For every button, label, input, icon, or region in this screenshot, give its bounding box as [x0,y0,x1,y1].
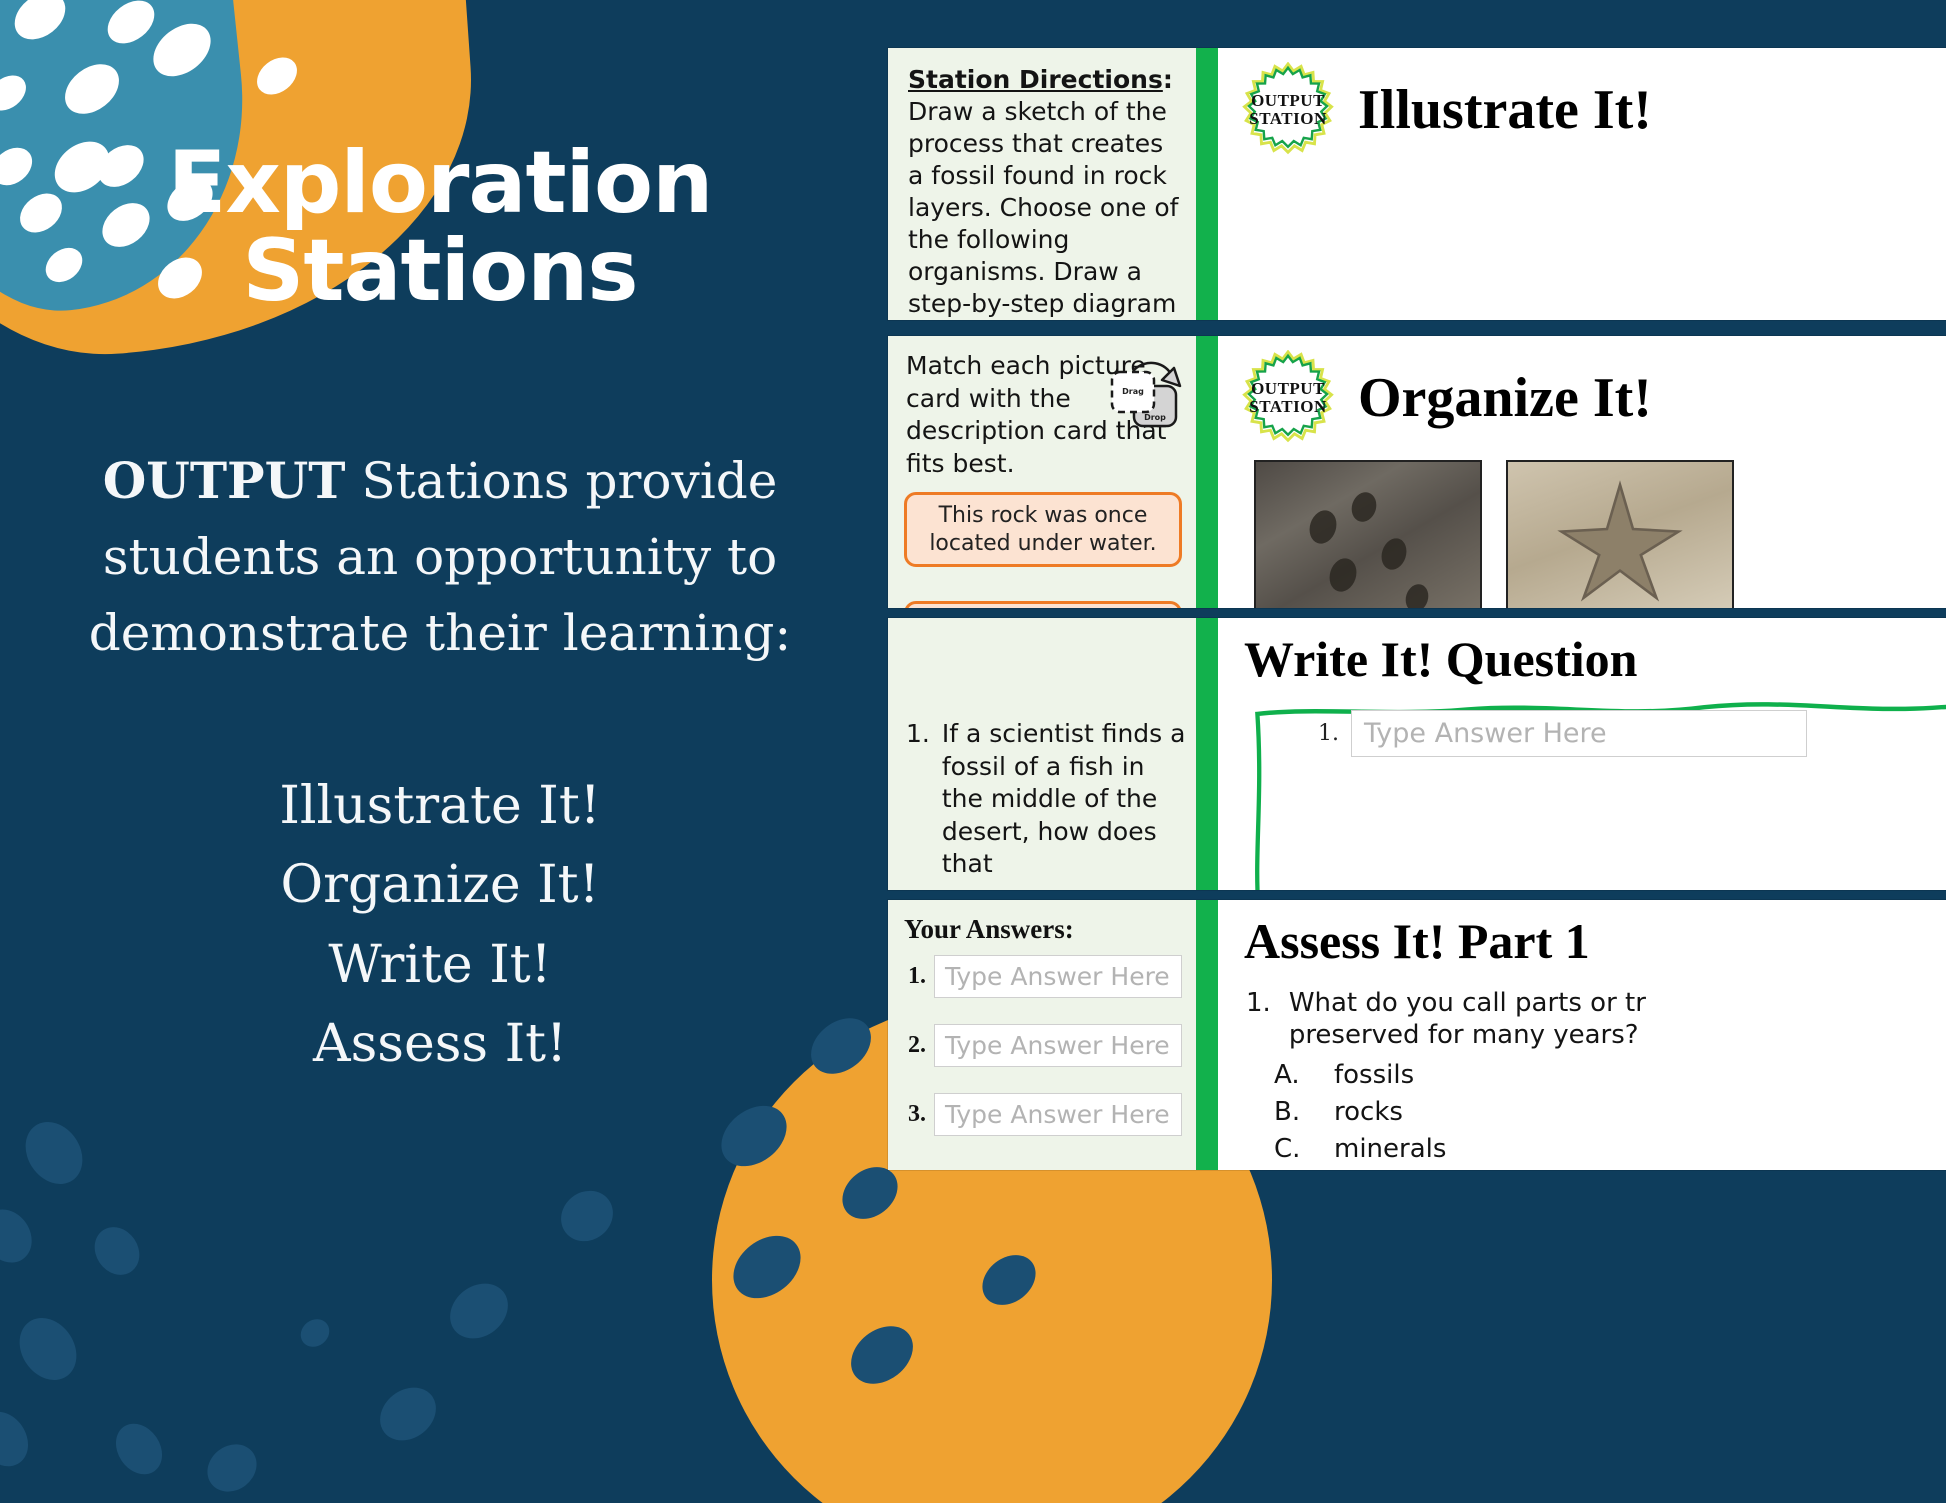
station-list-item-3: Assess It! [45,1005,835,1084]
seal-label: OUTPUT STATION [1240,62,1336,158]
assess-choice-text-b: rocks [1334,1094,1403,1131]
station-directions-label: Station Directions [908,65,1163,94]
slide-preview-organize[interactable]: Match each picture card with the descrip… [888,336,1946,608]
green-accent-bar [1196,900,1218,1170]
illustrate-directions-text: Station Directions: Draw a sketch of the… [888,48,1196,320]
illustrate-title: Illustrate It! [1358,82,1652,138]
assess-choice-label-b: B. [1274,1094,1304,1131]
write-question-pane: 1. If a scientist finds a fossil of a fi… [888,618,1196,890]
green-accent-bar [1196,48,1218,320]
assess-question-number: 1. [1246,988,1271,1051]
assess-answer-number-1: 1. [900,963,926,990]
green-accent-bar [1196,618,1218,890]
assess-answer-number-3: 3. [900,1101,926,1128]
station-type-list: Illustrate It! Organize It! Write It! As… [45,767,835,1083]
organize-header-row: OUTPUT STATION Organize It! [1218,336,1946,446]
station-list-item-2: Write It! [45,926,835,1005]
assess-choice-text-a: fossils [1334,1057,1414,1094]
seal-line-2: STATION [1249,110,1327,128]
write-question-number: 1. [906,718,930,881]
assess-choice-d[interactable]: D. dinosaurs [1274,1168,1946,1170]
slide-preview-write[interactable]: 1. If a scientist finds a fossil of a fi… [888,618,1946,890]
illustrate-header-row: OUTPUT STATION Illustrate It! [1218,48,1946,158]
organize-instructions-pane: Match each picture card with the descrip… [888,336,1196,608]
assess-question-line-2: preserved for many years? [1289,1020,1639,1050]
fossil-image-starfish[interactable] [1506,460,1734,608]
station-directions-body: Draw a sketch of the process that create… [908,97,1178,320]
description-paragraph: OUTPUT Stations provide students an oppo… [45,443,835,671]
assess-question-line-1: What do you call parts or tr [1289,988,1646,1018]
description-card-1[interactable]: This object was located [904,601,1182,608]
assess-title: Assess It! Part 1 [1218,900,1946,970]
svg-text:Drop: Drop [1144,413,1166,422]
svg-text:Drag: Drag [1122,387,1144,396]
assess-answer-list: 1. Type Answer Here 2. Type Answer Here … [888,945,1196,1136]
write-answer-number: 1. [1318,721,1339,746]
assess-question-pane[interactable]: Assess It! Part 1 1. What do you call pa… [1218,900,1946,1170]
slide-preview-illustrate[interactable]: Station Directions: Draw a sketch of the… [888,48,1946,320]
title-line-2: Stations [60,228,820,316]
fossil-image-footprints[interactable] [1254,460,1482,608]
green-accent-bar [1196,336,1218,608]
assess-answer-row-3[interactable]: 3. Type Answer Here [900,1093,1182,1136]
assess-choice-b[interactable]: B. rocks [1274,1094,1946,1131]
seal-line-2: STATION [1249,398,1327,416]
organize-instructions-text: Match each picture card with the descrip… [888,336,1196,480]
description-card-0[interactable]: This rock was once located under water. [904,492,1182,567]
assess-answer-row-1[interactable]: 1. Type Answer Here [900,955,1182,998]
output-station-seal-icon: OUTPUT STATION [1240,350,1336,446]
assess-answer-input-1[interactable]: Type Answer Here [934,955,1182,998]
assess-answer-input-3[interactable]: Type Answer Here [934,1093,1182,1136]
drag-drop-icon: Drag Drop [1098,356,1190,444]
organize-canvas-pane[interactable]: OUTPUT STATION Organize It! [1218,336,1946,608]
assess-answer-row-2[interactable]: 2. Type Answer Here [900,1024,1182,1067]
page-title: Exploration Stations [60,140,820,315]
write-question-block: 1. If a scientist finds a fossil of a fi… [888,618,1196,881]
fossil-picture-cards [1218,446,1946,608]
your-answers-label: Your Answers: [888,900,1196,945]
station-list-item-0: Illustrate It! [45,767,835,846]
station-directions-colon: : [1163,65,1173,94]
output-station-seal-icon: OUTPUT STATION [1240,62,1336,158]
assess-choice-c[interactable]: C. minerals [1274,1131,1946,1168]
slide-preview-stack: Station Directions: Draw a sketch of the… [888,48,1946,1488]
write-title: Write It! Question [1218,618,1946,688]
slide-preview-assess[interactable]: Your Answers: 1. Type Answer Here 2. Typ… [888,900,1946,1170]
assess-choice-label-d: D. [1274,1168,1304,1170]
assess-choice-label-a: A. [1274,1057,1304,1094]
description-lead: OUTPUT [103,451,346,510]
assess-choice-list: A. fossils B. rocks C. minerals D. dinos… [1218,1051,1946,1170]
seal-line-1: OUTPUT [1251,92,1325,110]
station-list-item-1: Organize It! [45,846,835,925]
title-line-1: Exploration [60,140,820,228]
handdrawn-answer-frame: 1. Type Answer Here [1252,696,1946,890]
assess-choice-text-c: minerals [1334,1131,1446,1168]
write-question-text: If a scientist finds a fossil of a fish … [942,718,1186,881]
left-content-column: Exploration Stations OUTPUT Stations pro… [0,0,880,1503]
assess-choice-label-c: C. [1274,1131,1304,1168]
assess-choice-text-d: dinosaurs [1334,1168,1460,1170]
seal-line-1: OUTPUT [1251,380,1325,398]
illustrate-canvas-pane[interactable]: OUTPUT STATION Illustrate It! [1218,48,1946,320]
write-answer-input[interactable]: Type Answer Here [1351,710,1807,757]
seal-label: OUTPUT STATION [1240,350,1336,446]
organize-title: Organize It! [1358,370,1652,426]
assess-answers-pane: Your Answers: 1. Type Answer Here 2. Typ… [888,900,1196,1170]
write-answer-row[interactable]: 1. Type Answer Here [1318,710,1807,757]
assess-answer-input-2[interactable]: Type Answer Here [934,1024,1182,1067]
assess-choice-a[interactable]: A. fossils [1274,1057,1946,1094]
assess-question: 1. What do you call parts or tr preserve… [1218,970,1946,1051]
assess-answer-number-2: 2. [900,1032,926,1059]
write-answer-pane[interactable]: Write It! Question 1. Type Answer Here [1218,618,1946,890]
illustrate-directions-pane: Station Directions: Draw a sketch of the… [888,48,1196,320]
slide-canvas: Exploration Stations OUTPUT Stations pro… [0,0,1946,1503]
